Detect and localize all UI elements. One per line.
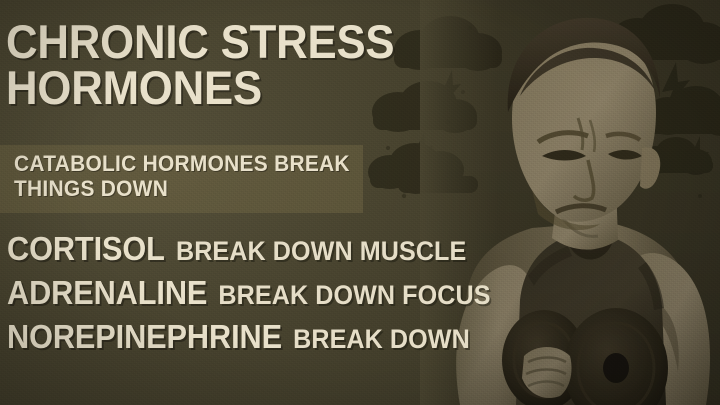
hormone-list: CORTISOL BREAK DOWN MUSCLE ADRENALINE BR…: [7, 232, 507, 364]
hormone-name: ADRENALINE: [7, 276, 207, 309]
text-content: CHRONIC STRESS HORMONES CATABOLIC HORMON…: [0, 0, 720, 405]
hormone-effect: BREAK DOWN: [293, 326, 470, 353]
page-title: CHRONIC STRESS HORMONES: [6, 19, 406, 111]
stress-hormones-poster: CHRONIC STRESS HORMONES CATABOLIC HORMON…: [0, 0, 720, 405]
hormone-effect: BREAK DOWN FOCUS: [218, 282, 490, 309]
hormone-effect: BREAK DOWN MUSCLE: [176, 238, 466, 265]
hormone-name: NOREPINEPHRINE: [7, 320, 282, 353]
list-item: ADRENALINE BREAK DOWN FOCUS: [7, 276, 472, 309]
hormone-name: CORTISOL: [7, 232, 165, 265]
subtitle-text: CATABOLIC HORMONES BREAK THINGS DOWN: [14, 152, 356, 201]
list-item: NOREPINEPHRINE BREAK DOWN: [7, 320, 472, 353]
list-item: CORTISOL BREAK DOWN MUSCLE: [7, 232, 472, 265]
